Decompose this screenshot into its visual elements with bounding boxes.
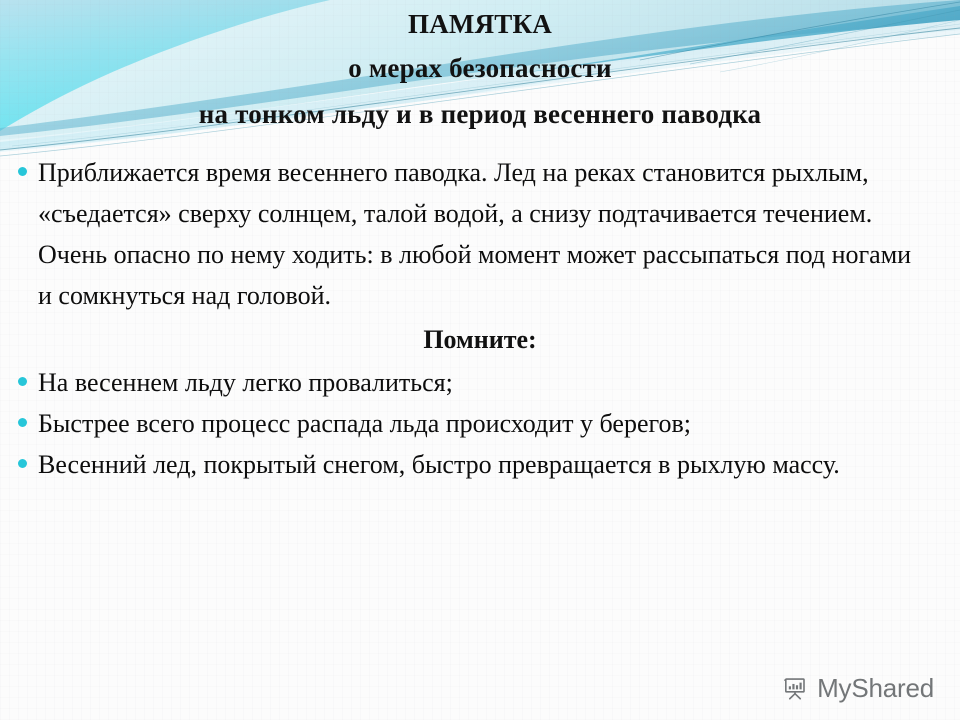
safety-list: На весеннем льду легко провалиться; Быст…	[0, 362, 960, 485]
list-item-label: Весенний лед, покрытый снегом, быстро пр…	[38, 450, 840, 479]
remember-heading: Помните:	[0, 316, 960, 362]
body-block: Приближается время весеннего паводка. Ле…	[0, 152, 960, 485]
myshared-watermark: MyShared	[780, 673, 934, 704]
presentation-board-icon	[780, 674, 810, 704]
title-subtitle-2: на тонком льду и в период весеннего паво…	[0, 91, 960, 137]
bullet-icon	[18, 377, 27, 386]
watermark-label: MyShared	[817, 673, 934, 704]
title-block: ПАМЯТКА о мерах безопасности на тонком л…	[0, 0, 960, 137]
bullet-icon	[18, 459, 27, 468]
intro-paragraph-text: Приближается время весеннего паводка. Ле…	[38, 158, 911, 310]
list-item: Быстрее всего процесс распада льда проис…	[0, 403, 960, 444]
bullet-icon	[18, 418, 27, 427]
list-item-label: На весеннем льду легко провалиться;	[38, 368, 453, 397]
page-title: ПАМЯТКА	[0, 0, 960, 45]
list-item: На весеннем льду легко провалиться;	[0, 362, 960, 403]
title-subtitle-1: о мерах безопасности	[0, 45, 960, 91]
slide-canvas: ПАМЯТКА о мерах безопасности на тонком л…	[0, 0, 960, 720]
bullet-icon	[18, 167, 27, 176]
list-item: Весенний лед, покрытый снегом, быстро пр…	[0, 444, 960, 485]
intro-paragraph: Приближается время весеннего паводка. Ле…	[0, 152, 960, 316]
list-item-label: Быстрее всего процесс распада льда проис…	[38, 409, 691, 438]
slide-content: ПАМЯТКА о мерах безопасности на тонком л…	[0, 0, 960, 720]
